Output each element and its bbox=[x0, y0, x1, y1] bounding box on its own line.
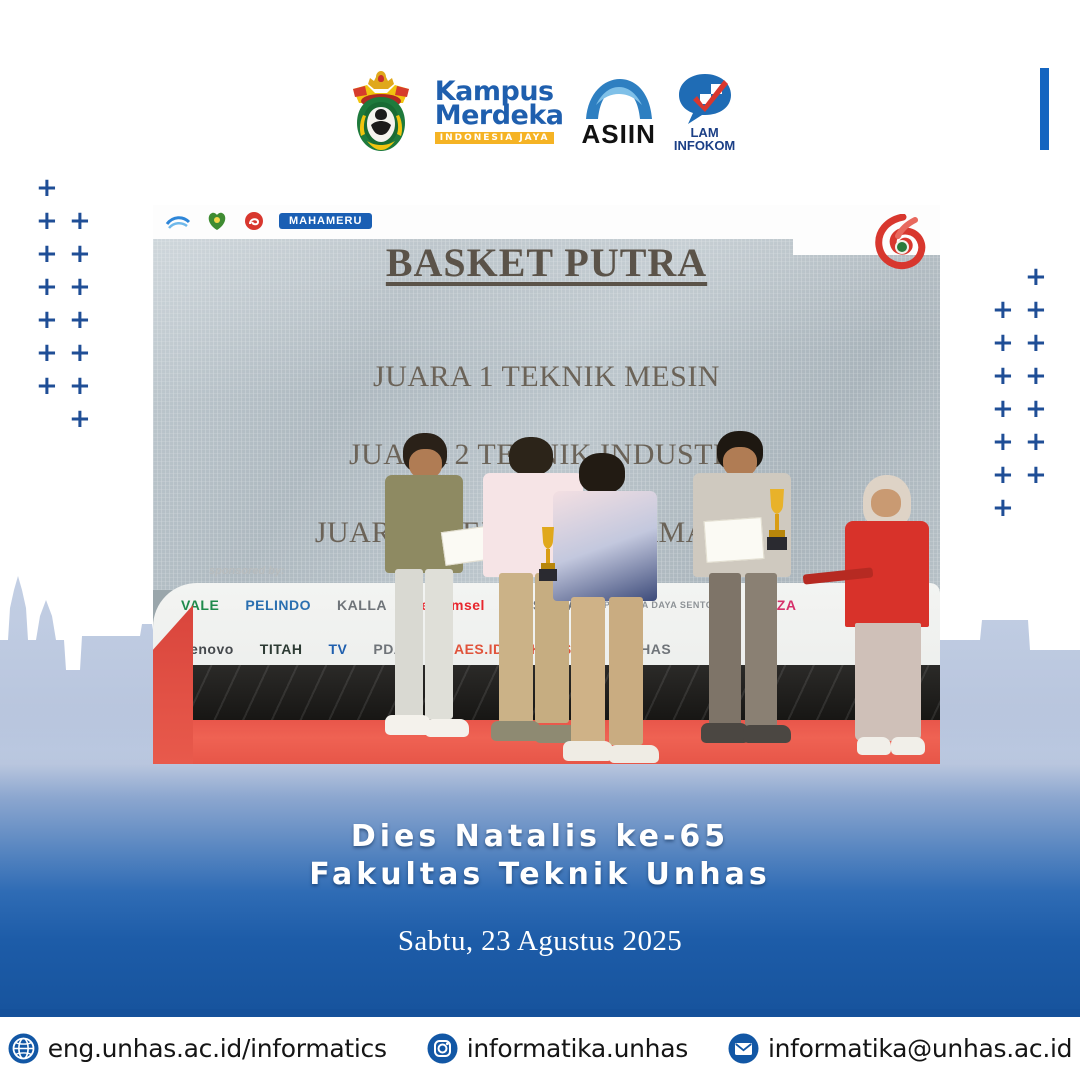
trophy bbox=[537, 525, 559, 585]
plus-icon: + bbox=[992, 330, 1014, 356]
footer-instagram[interactable]: informatika.unhas bbox=[427, 1033, 688, 1064]
title-line-1: Dies Natalis ke-65 bbox=[0, 818, 1080, 856]
poster-canvas: Kampus Merdeka INDONESIA JAYA ASIIN bbox=[0, 0, 1080, 1080]
kampus-merdeka-logo: Kampus Merdeka INDONESIA JAYA bbox=[435, 80, 564, 145]
plus-icon: + bbox=[1025, 297, 1047, 323]
instagram-icon bbox=[427, 1033, 458, 1064]
partner-logo-2 bbox=[205, 211, 229, 231]
asiin-logo: ASIIN bbox=[582, 77, 656, 147]
person-student-3 bbox=[693, 431, 799, 761]
partner-logo-mahameru: MAHAMERU bbox=[279, 213, 372, 229]
plus-decor-left: + + + + + + + + + + + + + + bbox=[36, 175, 106, 425]
footer-website[interactable]: eng.unhas.ac.id/informatics bbox=[8, 1033, 387, 1064]
footer-contact-row: eng.unhas.ac.id/informatics informatika.… bbox=[0, 1017, 1080, 1080]
accent-bar bbox=[1040, 68, 1049, 150]
plus-icon: + bbox=[69, 208, 91, 234]
event-photo: MAHAMERU BASKET PUTRA JUARA 1 TEKNIK MES… bbox=[153, 205, 940, 764]
plus-icon: + bbox=[1025, 396, 1047, 422]
plus-icon: + bbox=[1025, 330, 1047, 356]
plus-icon: + bbox=[69, 340, 91, 366]
plus-icon: + bbox=[36, 274, 58, 300]
title-line-2: Fakultas Teknik Unhas bbox=[0, 856, 1080, 894]
plus-icon: + bbox=[1025, 462, 1047, 488]
person-student-1 bbox=[381, 433, 473, 753]
plus-icon: + bbox=[69, 307, 91, 333]
kampus-merdeka-tagline: INDONESIA JAYA bbox=[435, 132, 555, 144]
photo-partner-logos: MAHAMERU bbox=[165, 211, 372, 231]
lam-infokom-logo: LAM INFOKOM bbox=[674, 72, 735, 153]
sponsor-logo: PELINDO bbox=[245, 597, 311, 613]
title-block: Dies Natalis ke-65 Fakultas Teknik Unhas bbox=[0, 818, 1080, 895]
plus-icon: + bbox=[992, 429, 1014, 455]
footer-email-text: informatika@unhas.ac.id bbox=[768, 1034, 1072, 1063]
backdrop-winner-1: JUARA 1 TEKNIK MESIN bbox=[153, 360, 940, 394]
plus-icon: + bbox=[69, 406, 91, 432]
plus-decor-right: + + + + + + + + + + + + + + bbox=[992, 264, 1062, 514]
footer-divider-bar bbox=[0, 1009, 1080, 1017]
sponsored-by-label: sponsored by: bbox=[209, 565, 285, 577]
person-usher bbox=[843, 475, 935, 764]
sponsor-logo: TV bbox=[328, 641, 347, 657]
header-logo-row: Kampus Merdeka INDONESIA JAYA ASIIN bbox=[0, 62, 1080, 162]
plus-icon: + bbox=[69, 241, 91, 267]
plus-icon: + bbox=[1025, 264, 1047, 290]
plus-icon: + bbox=[69, 274, 91, 300]
lam-line1: LAM bbox=[690, 126, 718, 139]
backdrop-title: BASKET PUTRA bbox=[153, 239, 940, 286]
plus-icon: + bbox=[36, 340, 58, 366]
plus-icon: + bbox=[992, 495, 1014, 521]
plus-icon: + bbox=[36, 307, 58, 333]
asiin-wordmark: ASIIN bbox=[582, 121, 656, 147]
plus-icon: + bbox=[992, 363, 1014, 389]
person-student-2 bbox=[553, 453, 665, 764]
kampus-merdeka-line2: Merdeka bbox=[435, 104, 564, 129]
sponsor-logo: TITAH bbox=[260, 641, 303, 657]
unhas-emblem-icon bbox=[345, 67, 417, 158]
plus-icon: + bbox=[1025, 429, 1047, 455]
plus-icon: + bbox=[36, 373, 58, 399]
plus-icon: + bbox=[36, 175, 58, 201]
globe-icon bbox=[8, 1033, 39, 1064]
footer-website-text: eng.unhas.ac.id/informatics bbox=[48, 1034, 387, 1063]
plus-icon: + bbox=[1025, 363, 1047, 389]
partner-logo-3 bbox=[243, 211, 265, 231]
event-date: Sabtu, 23 Agustus 2025 bbox=[0, 925, 1080, 958]
partner-logo-1 bbox=[165, 211, 191, 231]
footer-email[interactable]: informatika@unhas.ac.id bbox=[728, 1033, 1072, 1064]
plus-icon: + bbox=[36, 208, 58, 234]
sponsor-logo: KALLA bbox=[337, 597, 387, 613]
plus-icon: + bbox=[36, 241, 58, 267]
plus-icon: + bbox=[992, 396, 1014, 422]
email-icon bbox=[728, 1033, 759, 1064]
trophy bbox=[765, 487, 789, 553]
footer-instagram-text: informatika.unhas bbox=[467, 1034, 688, 1063]
sponsor-logo: VALE bbox=[181, 597, 219, 613]
plus-icon: + bbox=[992, 297, 1014, 323]
lam-line2: INFOKOM bbox=[674, 139, 735, 152]
certificate bbox=[704, 517, 765, 563]
plus-icon: + bbox=[992, 462, 1014, 488]
certificate bbox=[441, 526, 489, 566]
plus-icon: + bbox=[69, 373, 91, 399]
